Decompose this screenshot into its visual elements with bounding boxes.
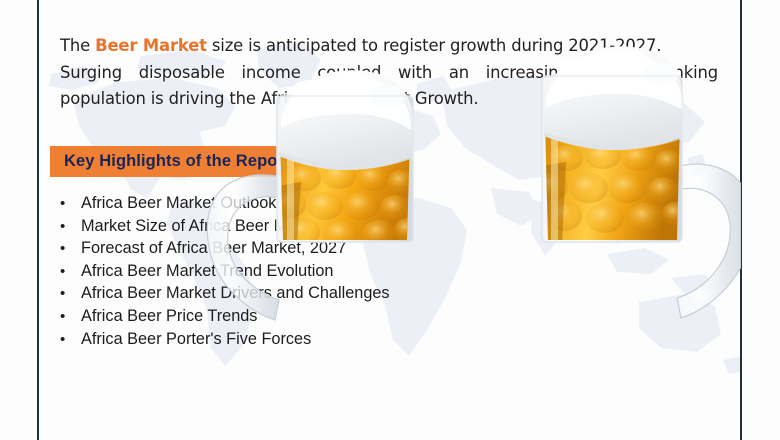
intro-paragraph: The Beer Market size is anticipated to r… [60,33,718,113]
list-item: • Africa Beer Price Trends [60,305,700,328]
beer-market-highlight: Beer Market [95,36,207,55]
list-item-label: Africa Beer Market Trend Evolution [81,260,333,283]
list-item: • Market Size of Africa Beer Market, 202… [60,215,700,238]
list-item-label: Africa Beer Market Outlook [81,192,276,215]
intro-line-1: The Beer Market size is anticipated to r… [60,33,718,60]
list-item: • Forecast of Africa Beer Market, 2027 [60,237,700,260]
bullet-marker-icon: • [60,193,81,216]
left-border-rule [37,0,39,440]
bullet-marker-icon: • [60,306,81,329]
intro-line-1-suffix: size is anticipated to register growth d… [207,36,661,55]
list-item-label: Africa Beer Porter's Five Forces [81,328,311,351]
list-item-label: Africa Beer Market Drivers and Challenge… [81,282,390,305]
intro-line-1-prefix: The [60,36,95,55]
banner-title: Key Highlights of the Report [64,152,290,171]
bullet-marker-icon: • [60,261,81,284]
list-item: • Africa Beer Market Drivers and Challen… [60,282,700,305]
bullet-marker-icon: • [60,283,81,306]
highlights-list: • Africa Beer Market Outlook • Market Si… [60,192,700,350]
right-border-rule [740,0,742,440]
intro-line-2: Surging disposable income coupled with a… [60,60,718,87]
list-item-label: Africa Beer Price Trends [81,305,257,328]
bullet-marker-icon: • [60,329,81,352]
list-item: • Africa Beer Porter's Five Forces [60,328,700,351]
report-slide: The Beer Market size is anticipated to r… [0,0,780,440]
bullet-marker-icon: • [60,216,81,239]
intro-line-2-text: Surging disposable income coupled with a… [60,60,718,87]
list-item-label: Market Size of Africa Beer Market, 2020 [81,215,369,238]
list-item: • Africa Beer Market Trend Evolution [60,260,700,283]
key-highlights-banner: Key Highlights of the Report [50,146,312,177]
list-item: • Africa Beer Market Outlook [60,192,700,215]
list-item-label: Forecast of Africa Beer Market, 2027 [81,237,346,260]
intro-line-3: population is driving the Africa Beer Ma… [60,86,718,113]
bullet-marker-icon: • [60,238,81,261]
